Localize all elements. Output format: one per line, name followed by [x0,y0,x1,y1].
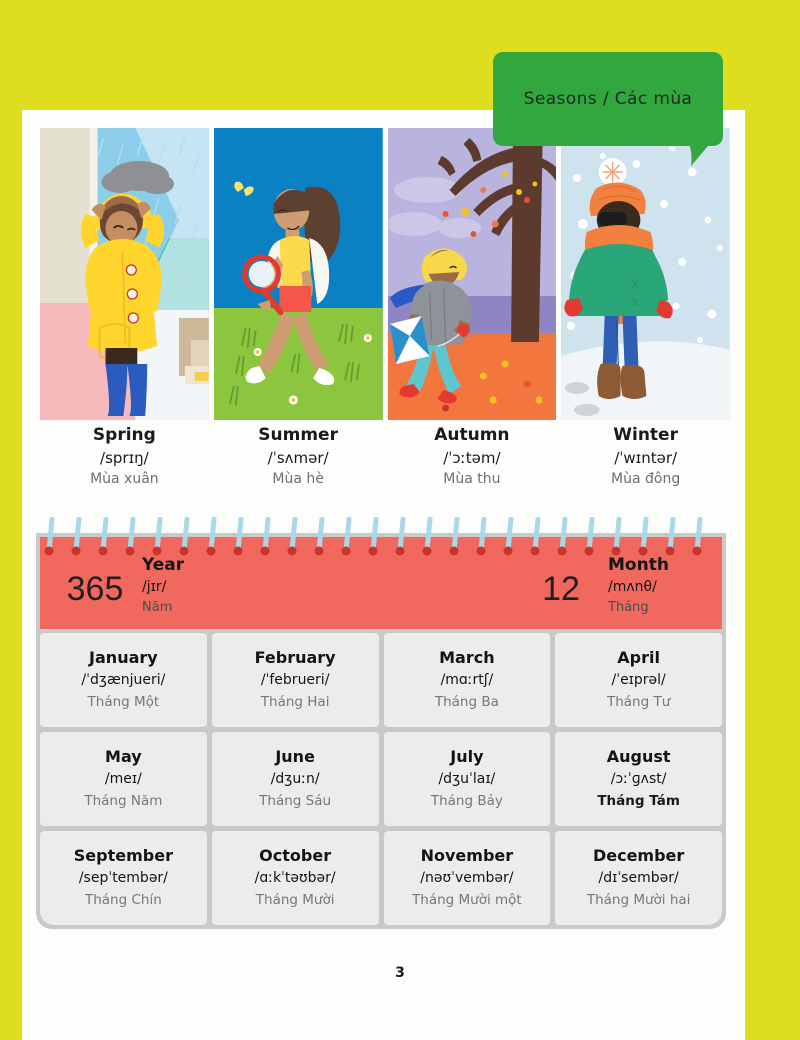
seasons-illustration-row [40,128,730,420]
month-name: May [105,746,142,768]
season-vietnamese: Mùa hè [214,469,383,490]
page-title: Seasons / Các mùa [493,52,723,146]
month-cell-june[interactable]: June /dʒuːn/ Tháng Sáu [212,732,379,826]
month-ipa: /sepˈtembər/ [79,867,168,889]
month-name: September [74,845,173,867]
month-vietnamese: Tháng Mười hai [587,890,691,912]
month-name: July [450,746,483,768]
month-name: June [275,746,315,768]
season-ipa: /ˈwɪntər/ [561,447,730,470]
month-vietnamese: Tháng Mười [256,890,335,912]
year-ipa: /jɪr/ [142,577,184,599]
season-name: Summer [214,424,383,447]
month-vietnamese: Tháng Ba [435,692,499,714]
year-vietnamese: Năm [142,598,184,618]
month-vietnamese: Tháng [608,598,669,618]
spring-stairs-icon [179,318,209,384]
month-ipa: /ɑːkˈtəʊbər/ [255,867,336,889]
season-name: Autumn [388,424,557,447]
month-ipa: /ɔːˈɡʌst/ [611,768,667,790]
page-number: 3 [0,965,800,981]
season-card-spring[interactable] [40,128,209,420]
month-ipa: /mʌnθ/ [608,577,669,599]
season-ipa: /sprɪŋ/ [40,447,209,470]
month-name: March [439,647,494,669]
month-name: August [607,746,671,768]
month-ipa: /ˈeɪprəl/ [612,669,666,691]
spring-illustration-icon [40,128,209,420]
month-ipa: /dʒuːn/ [271,768,320,790]
season-name: Winter [561,424,730,447]
season-vietnamese: Mùa thu [388,469,557,490]
season-ipa: /ˈsʌmər/ [214,447,383,470]
month-vietnamese: Tháng Sáu [259,791,331,813]
month-vietnamese: Tháng Năm [84,791,162,813]
season-vietnamese: Mùa xuân [40,469,209,490]
month-vietnamese: Tháng Chín [85,890,162,912]
month-vietnamese: Tháng Bảy [431,791,503,813]
month-ipa: /nəʊˈvembər/ [420,867,513,889]
header-tab[interactable]: Seasons / Các mùa [493,52,723,146]
month-cell-december[interactable]: December /dɪˈsembər/ Tháng Mười hai [555,831,722,925]
month-vietnamese: Tháng Hai [261,692,330,714]
months-grid: January /ˈdʒænjueri/ Tháng Một February … [40,633,722,925]
month-cell-march[interactable]: March /mɑːrtʃ/ Tháng Ba [384,633,551,727]
month-ipa: /meɪ/ [105,768,142,790]
season-card-winter[interactable] [561,128,730,420]
month-cell-january[interactable]: January /ˈdʒænjueri/ Tháng Một [40,633,207,727]
month-ipa: /mɑːrtʃ/ [441,669,494,691]
season-label-winter: Winter /ˈwɪntər/ Mùa đông [561,424,730,490]
month-vietnamese: Tháng Một [88,692,160,714]
month-cell-july[interactable]: July /dʒuˈlaɪ/ Tháng Bảy [384,732,551,826]
month-ipa: /ˈfebrueri/ [261,669,330,691]
calendar: 365 Year /jɪr/ Năm 12 Month /mʌnθ/ Tháng… [36,533,726,929]
month-vietnamese: Tháng Tám [597,791,680,813]
season-card-summer[interactable] [214,128,383,420]
month-cell-november[interactable]: November /nəʊˈvembər/ Tháng Mười một [384,831,551,925]
month-name: January [89,647,158,669]
month-name: February [255,647,336,669]
autumn-illustration-icon [388,128,557,420]
season-label-spring: Spring /sprɪŋ/ Mùa xuân [40,424,209,490]
month-ipa: /ˈdʒænjueri/ [81,669,165,691]
season-label-autumn: Autumn /ˈɔːtəm/ Mùa thu [388,424,557,490]
month-name: November [421,845,514,867]
month-cell-october[interactable]: October /ɑːkˈtəʊbər/ Tháng Mười [212,831,379,925]
winter-illustration-icon [561,128,730,420]
month-cell-may[interactable]: May /meɪ/ Tháng Năm [40,732,207,826]
season-label-summer: Summer /ˈsʌmər/ Mùa hè [214,424,383,490]
month-name: April [617,647,660,669]
season-name: Spring [40,424,209,447]
month-vietnamese: Tháng Tư [607,692,670,714]
season-card-autumn[interactable] [388,128,557,420]
month-name: December [593,845,684,867]
month-cell-april[interactable]: April /ˈeɪprəl/ Tháng Tư [555,633,722,727]
summer-illustration-icon [214,128,383,420]
season-ipa: /ˈɔːtəm/ [388,447,557,470]
month-ipa: /dʒuˈlaɪ/ [438,768,495,790]
spiral-binding-icon [36,517,726,567]
seasons-label-row: Spring /sprɪŋ/ Mùa xuân Summer /ˈsʌmər/ … [40,424,730,490]
month-cell-september[interactable]: September /sepˈtembər/ Tháng Chín [40,831,207,925]
month-ipa: /dɪˈsembər/ [599,867,679,889]
season-vietnamese: Mùa đông [561,469,730,490]
month-name: October [259,845,331,867]
month-cell-february[interactable]: February /ˈfebrueri/ Tháng Hai [212,633,379,727]
month-vietnamese: Tháng Mười một [412,890,522,912]
month-cell-august[interactable]: August /ɔːˈɡʌst/ Tháng Tám [555,732,722,826]
